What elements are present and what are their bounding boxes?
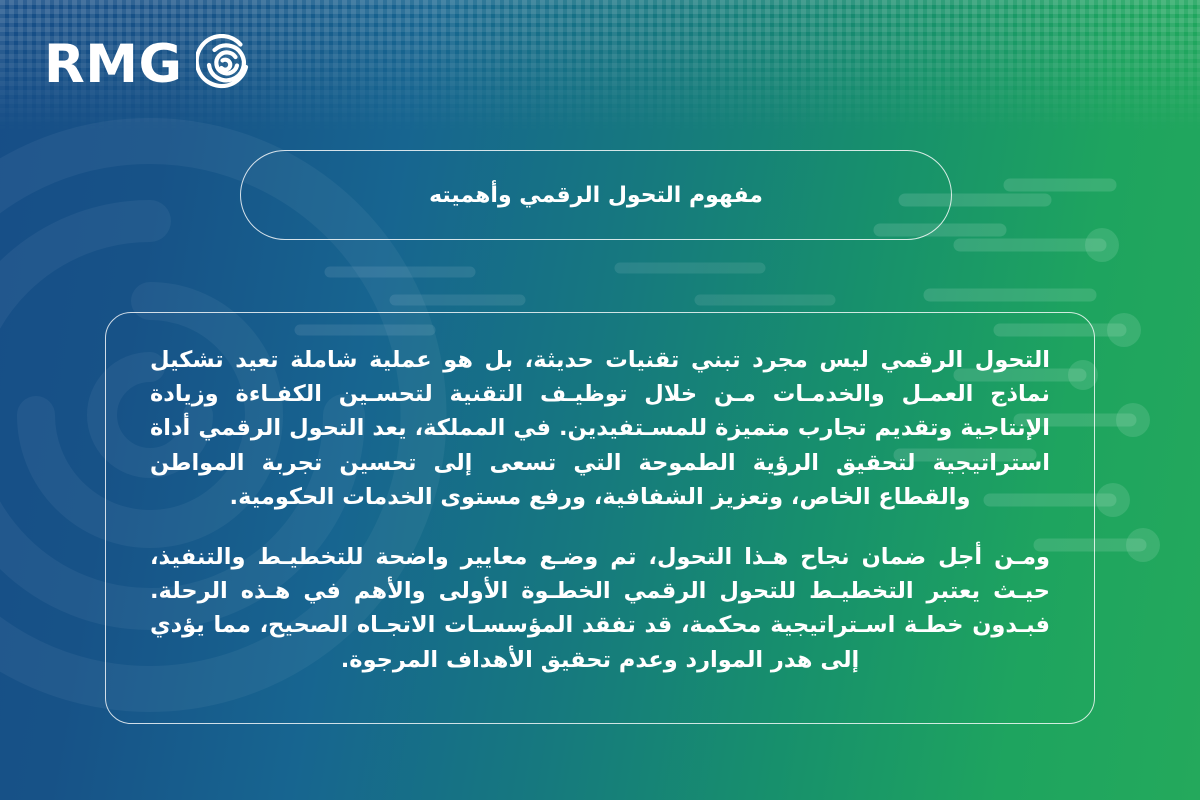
slide-canvas: RMG مفهوم التحول الرقمي وأهميته التحول ا… — [0, 0, 1200, 800]
brand-name: RMG — [44, 38, 183, 91]
content-card: التحول الرقمي ليس مجرد تبني تقنيات حديثة… — [105, 312, 1095, 724]
content-paragraph: التحول الرقمي ليس مجرد تبني تقنيات حديثة… — [150, 343, 1050, 514]
brand-logo: RMG — [44, 32, 256, 96]
page-title: مفهوم التحول الرقمي وأهميته — [429, 183, 763, 208]
spiral-target-icon — [196, 34, 256, 94]
content-paragraph: ومـن أجل ضمان نجاح هـذا التحول، تم وضـع … — [150, 540, 1050, 677]
title-pill: مفهوم التحول الرقمي وأهميته — [240, 150, 952, 240]
